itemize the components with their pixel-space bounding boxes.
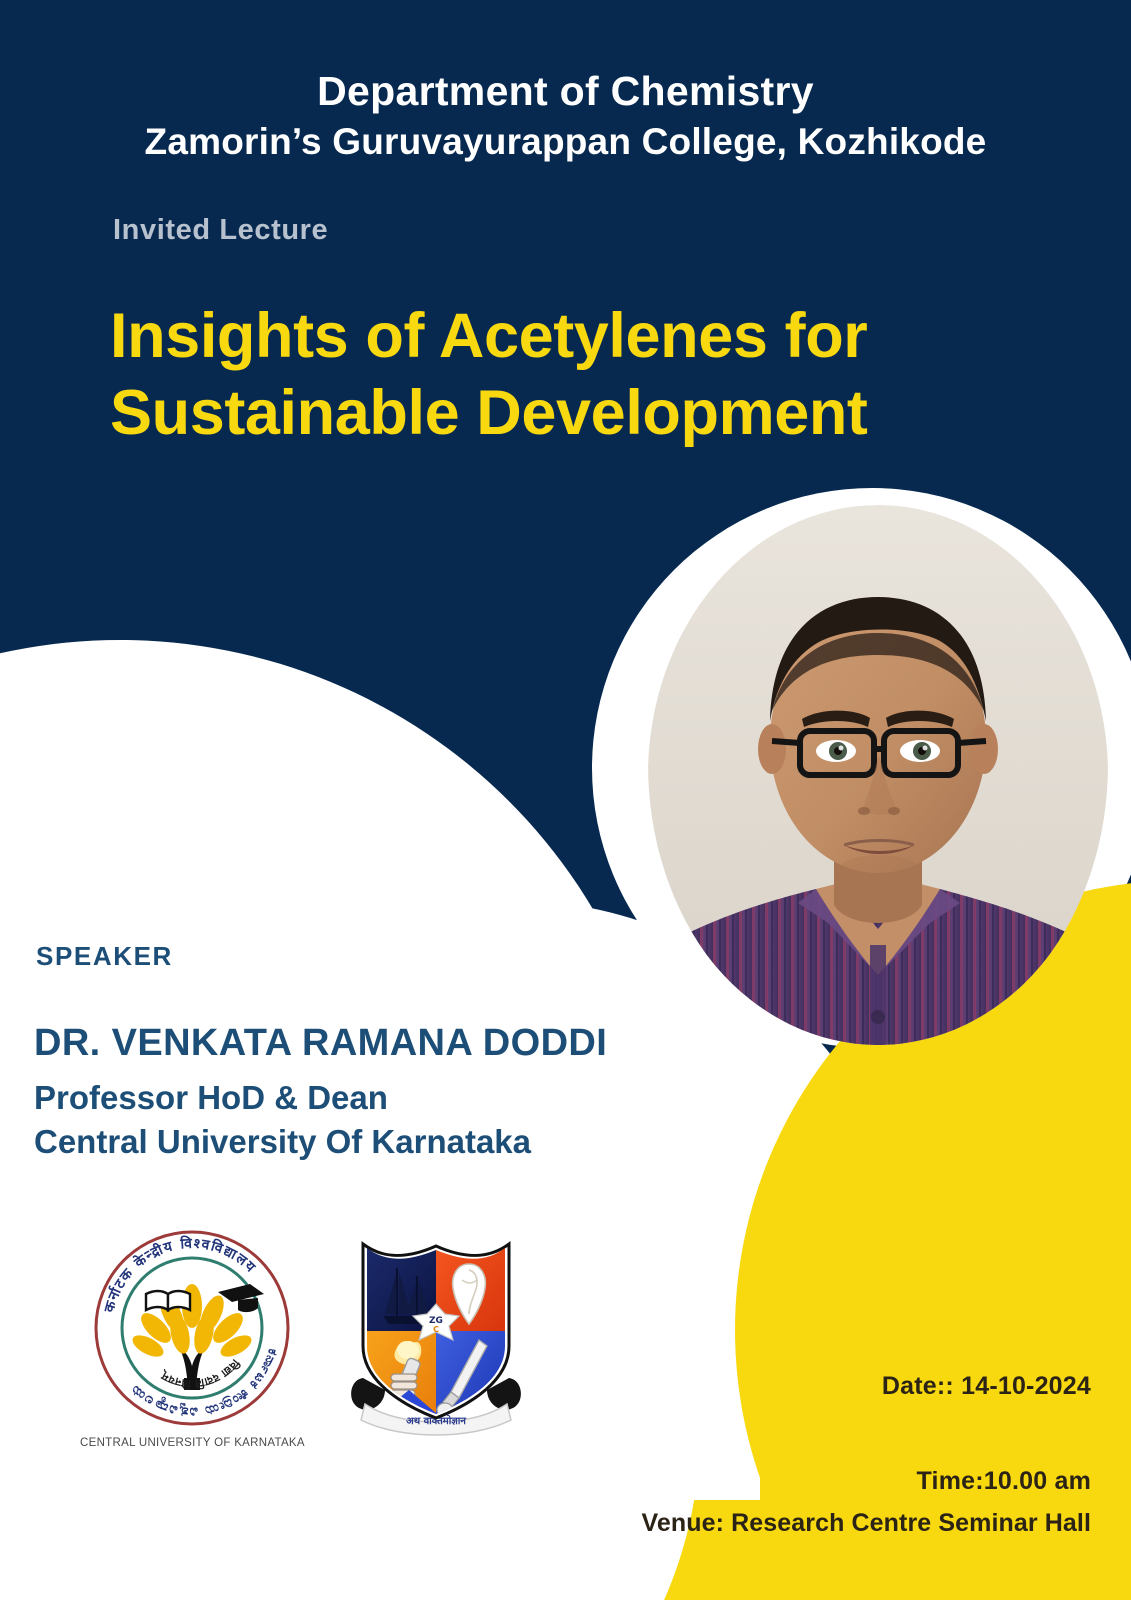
poster-root: Department of Chemistry Zamorin’s Guruva…	[0, 0, 1131, 1600]
talk-title-line-2: Sustainable Development	[110, 375, 1030, 452]
event-time: Time:10.00 am	[641, 1467, 1091, 1496]
svg-text:C: C	[433, 1325, 439, 1334]
event-details: Date:: 14-10-2024 Time:10.00 am Venue: R…	[641, 1372, 1091, 1538]
central-university-of-karnataka-logo-icon: कर्नाटक केन्द्रीय विश्वविद्यालय ಕರ್ನಾಟಕ …	[92, 1228, 292, 1428]
event-venue: Venue: Research Centre Seminar Hall	[641, 1509, 1091, 1538]
speaker-portrait-illustration	[648, 505, 1108, 1045]
speaker-photo-mask	[648, 505, 1108, 1045]
institution-title: Zamorin’s Guruvayurappan College, Kozhik…	[0, 120, 1131, 164]
department-title: Department of Chemistry	[0, 68, 1131, 116]
speaker-label: SPEAKER	[36, 941, 173, 972]
poster-header: Department of Chemistry Zamorin’s Guruva…	[0, 68, 1131, 164]
speaker-affiliation-block: Professor HoD & Dean Central University …	[34, 1076, 531, 1164]
page-title: Insights of Acetylenes for Sustainable D…	[110, 298, 1030, 452]
speaker-name: DR. VENKATA RAMANA DODDI	[34, 1022, 607, 1065]
logo-college-crest: अथ वाक्तमोज्ञान	[341, 1228, 531, 1447]
speaker-designation: Professor HoD & Dean	[34, 1076, 531, 1120]
event-kicker: Invited Lecture	[113, 214, 328, 247]
logo-cuk: कर्नाटक केन्द्रीय विश्वविद्यालय ಕರ್ನಾಟಕ …	[80, 1228, 305, 1449]
logo-cuk-caption: CENTRAL UNIVERSITY OF KARNATAKA	[80, 1437, 305, 1449]
talk-title-line-1: Insights of Acetylenes for	[110, 298, 1030, 375]
speaker-photo	[648, 505, 1108, 1045]
event-date: Date:: 14-10-2024	[641, 1372, 1091, 1401]
logo-row: कर्नाटक केन्द्रीय विश्वविद्यालय ಕರ್ನಾಟಕ …	[80, 1228, 531, 1449]
zamorins-guruvayurappan-college-crest-icon: अथ वाक्तमोज्ञान	[341, 1228, 531, 1438]
speaker-affiliation: Central University Of Karnataka	[34, 1120, 531, 1164]
book-icon	[146, 1291, 190, 1310]
